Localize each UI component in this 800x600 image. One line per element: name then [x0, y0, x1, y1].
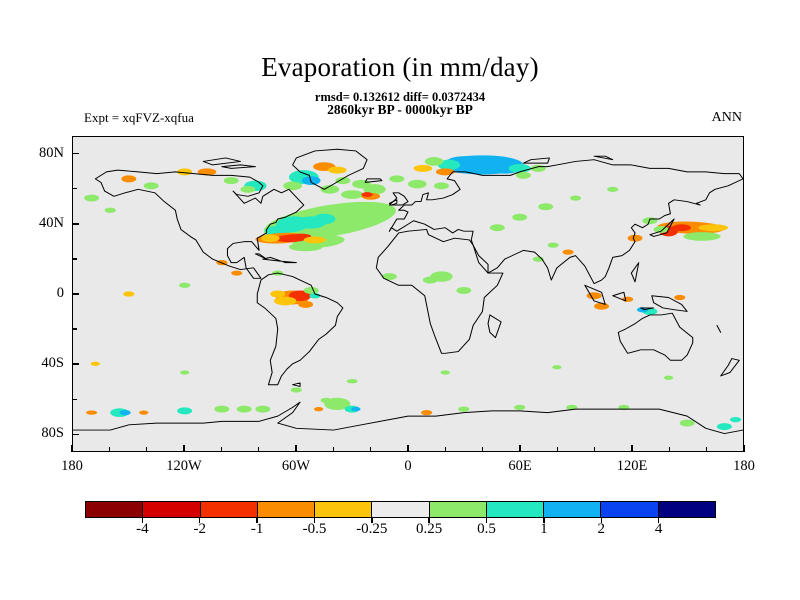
- anomaly-blob: [414, 165, 433, 172]
- anomaly-blob: [179, 283, 190, 288]
- anomaly-blob: [328, 167, 347, 174]
- anomaly-blob: [304, 287, 319, 294]
- colorbar-tick-label: -0.5: [284, 521, 344, 538]
- anomaly-blob: [672, 224, 691, 231]
- coastline-path: [717, 325, 721, 332]
- colorbar-tick-label: 0.5: [457, 521, 517, 538]
- x-axis-tick: [295, 445, 297, 452]
- anomaly-blob: [717, 423, 732, 430]
- anomaly-blob: [214, 406, 229, 413]
- anomaly-blob: [139, 411, 148, 415]
- anomaly-blob: [698, 224, 728, 231]
- coastline-path: [488, 315, 501, 338]
- anomaly-blob: [570, 195, 581, 200]
- x-axis-minor-tick: [706, 447, 708, 452]
- coastline-path: [594, 156, 613, 159]
- anomaly-blob: [458, 407, 469, 412]
- coastline-path: [255, 254, 266, 259]
- anomaly-blob: [423, 277, 438, 284]
- colorbar-band: [86, 502, 142, 517]
- x-axis-minor-tick: [109, 447, 111, 452]
- anomaly-blob: [274, 297, 296, 306]
- map-plot-area: [72, 136, 744, 452]
- coastline-path: [263, 257, 297, 262]
- anomaly-blob: [341, 190, 363, 199]
- anomaly-blob: [224, 177, 239, 184]
- anomaly-blob: [607, 187, 618, 192]
- x-axis-minor-tick: [258, 447, 260, 452]
- anomaly-blob: [389, 175, 404, 182]
- anomaly-blob: [86, 411, 97, 415]
- x-axis-minor-tick: [594, 447, 596, 452]
- anomaly-blob: [91, 362, 100, 366]
- coastline-path: [73, 402, 743, 433]
- anomaly-blob: [434, 182, 449, 189]
- coastline-path: [631, 263, 638, 282]
- x-axis-minor-tick: [557, 447, 559, 452]
- anomaly-blob: [730, 417, 741, 422]
- anomaly-blob: [314, 407, 323, 411]
- x-axis-label: 60E: [460, 458, 580, 475]
- anomaly-blob: [84, 195, 99, 202]
- anomaly-blob: [347, 379, 358, 383]
- y-axis-tick: [72, 434, 79, 436]
- x-axis-minor-tick: [482, 447, 484, 452]
- coastline-path: [365, 179, 382, 182]
- figure-root: Evaporation (in mm/day) rmsd= 0.132612 d…: [0, 0, 800, 600]
- x-axis-minor-tick: [146, 447, 148, 452]
- anomaly-blob: [261, 234, 280, 242]
- anomaly-blob: [683, 232, 720, 241]
- anomaly-blob: [674, 295, 685, 300]
- anomaly-blob: [255, 406, 270, 413]
- colorbar: [85, 501, 716, 518]
- colorbar-band: [543, 502, 600, 517]
- anomaly-blob: [654, 226, 669, 233]
- y-axis-label: 80S: [0, 425, 64, 442]
- y-axis-label: 80N: [0, 145, 64, 162]
- colorbar-tick-label: -1: [227, 521, 287, 538]
- anomaly-blob: [552, 365, 561, 369]
- coastline-path: [203, 158, 240, 165]
- x-axis-label: 180: [684, 458, 800, 475]
- experiment-label: Expt = xqFVZ-xqfua: [84, 110, 194, 126]
- anomaly-blob: [321, 398, 332, 403]
- colorbar-tick-label: 4: [629, 521, 689, 538]
- colorbar-tick-label: -4: [112, 521, 172, 538]
- anomaly-blob: [361, 205, 395, 219]
- x-axis-tick: [71, 445, 73, 452]
- anomaly-blob: [548, 243, 559, 248]
- anomaly-blob: [456, 287, 471, 294]
- coastline-path: [523, 158, 549, 163]
- anomaly-blob: [291, 387, 302, 392]
- x-axis-label: 60W: [236, 458, 356, 475]
- y-axis-tick: [72, 223, 79, 225]
- coastline-path: [293, 383, 300, 386]
- colorbar-band: [314, 502, 371, 517]
- anomaly-blob: [120, 410, 131, 415]
- anomaly-blob: [313, 214, 335, 224]
- anomaly-blob: [180, 370, 189, 374]
- anomaly-blob: [643, 217, 658, 224]
- colorbar-band: [486, 502, 543, 517]
- x-axis-tick: [631, 445, 633, 452]
- anomaly-blob: [622, 297, 633, 302]
- coastline-path: [618, 313, 692, 360]
- anomaly-blob: [361, 192, 372, 197]
- colorbar-band: [142, 502, 199, 517]
- colorbar-band: [600, 502, 657, 517]
- anomaly-blob: [490, 224, 505, 231]
- anomaly-field: [84, 155, 741, 430]
- colorbar-band: [200, 502, 257, 517]
- coastline-path: [222, 165, 256, 168]
- colorbar-tick-label: -0.25: [342, 521, 402, 538]
- coastlines: [73, 149, 743, 433]
- anomaly-blob: [441, 370, 450, 374]
- x-axis-label: 0: [348, 458, 468, 475]
- anomaly-blob: [105, 208, 116, 213]
- x-axis-minor-tick: [445, 447, 447, 452]
- coastline-path: [721, 359, 740, 376]
- coastline-path: [389, 200, 396, 205]
- x-axis-minor-tick: [333, 447, 335, 452]
- season-label: ANN: [712, 110, 742, 126]
- anomaly-blob: [514, 405, 525, 410]
- y-axis-tick: [72, 293, 79, 295]
- colorbar-labels: -4-2-1-0.5-0.250.250.5124: [85, 521, 716, 543]
- anomaly-blob: [237, 406, 252, 413]
- anomaly-blob: [231, 270, 242, 275]
- anomaly-blob: [334, 399, 349, 406]
- anomaly-blob: [121, 175, 136, 182]
- x-axis-minor-tick: [221, 447, 223, 452]
- anomaly-blob: [270, 291, 285, 298]
- y-axis-label: 0: [0, 285, 64, 302]
- y-axis-minor-tick: [72, 328, 77, 330]
- map-svg: [73, 137, 743, 451]
- y-axis-label: 40S: [0, 355, 64, 372]
- anomaly-blob: [587, 292, 602, 299]
- anomaly-blob: [538, 203, 553, 210]
- anomaly-blob: [408, 180, 427, 189]
- y-axis-tick: [72, 363, 79, 365]
- y-axis-label: 40N: [0, 215, 64, 232]
- x-axis-minor-tick: [370, 447, 372, 452]
- anomaly-blob: [421, 410, 432, 415]
- anomaly-blob: [283, 181, 302, 190]
- anomaly-blob: [177, 407, 192, 414]
- colorbar-tick-label: 1: [514, 521, 574, 538]
- x-axis-label: 180: [12, 458, 132, 475]
- anomaly-blob: [289, 243, 323, 252]
- x-axis-label: 120E: [572, 458, 692, 475]
- anomaly-blob: [144, 182, 159, 189]
- y-axis-minor-tick: [72, 258, 77, 260]
- x-axis-tick: [183, 445, 185, 452]
- anomaly-blob: [298, 301, 313, 308]
- colorbar-band: [371, 502, 428, 517]
- page-title: Evaporation (in mm/day): [0, 52, 800, 83]
- x-axis-tick: [743, 445, 745, 452]
- anomaly-blob: [241, 186, 256, 193]
- anomaly-blob: [351, 407, 360, 411]
- coastline-path: [376, 229, 503, 353]
- anomaly-blob: [425, 157, 444, 166]
- anomaly-blob: [304, 236, 326, 243]
- coastline-path: [257, 273, 343, 385]
- anomaly-blob: [436, 168, 455, 175]
- map-canvas: [73, 137, 743, 451]
- colorbar-band: [658, 502, 715, 517]
- anomaly-blob: [123, 291, 134, 296]
- y-axis-minor-tick: [72, 188, 77, 190]
- colorbar-tick-label: 2: [571, 521, 631, 538]
- colorbar-tick-label: -2: [170, 521, 230, 538]
- anomaly-blob: [562, 250, 573, 255]
- anomaly-blob: [664, 376, 673, 380]
- anomaly-blob: [680, 420, 695, 427]
- x-axis-label: 120W: [124, 458, 244, 475]
- colorbar-band: [429, 502, 486, 517]
- x-axis-tick: [407, 445, 409, 452]
- colorbar-band: [257, 502, 314, 517]
- x-axis-minor-tick: [669, 447, 671, 452]
- y-axis-minor-tick: [72, 399, 77, 401]
- colorbar-tick-label: 0.25: [399, 521, 459, 538]
- coastline-path: [389, 193, 408, 205]
- anomaly-blob: [512, 214, 527, 221]
- y-axis-tick: [72, 153, 79, 155]
- x-axis-tick: [519, 445, 521, 452]
